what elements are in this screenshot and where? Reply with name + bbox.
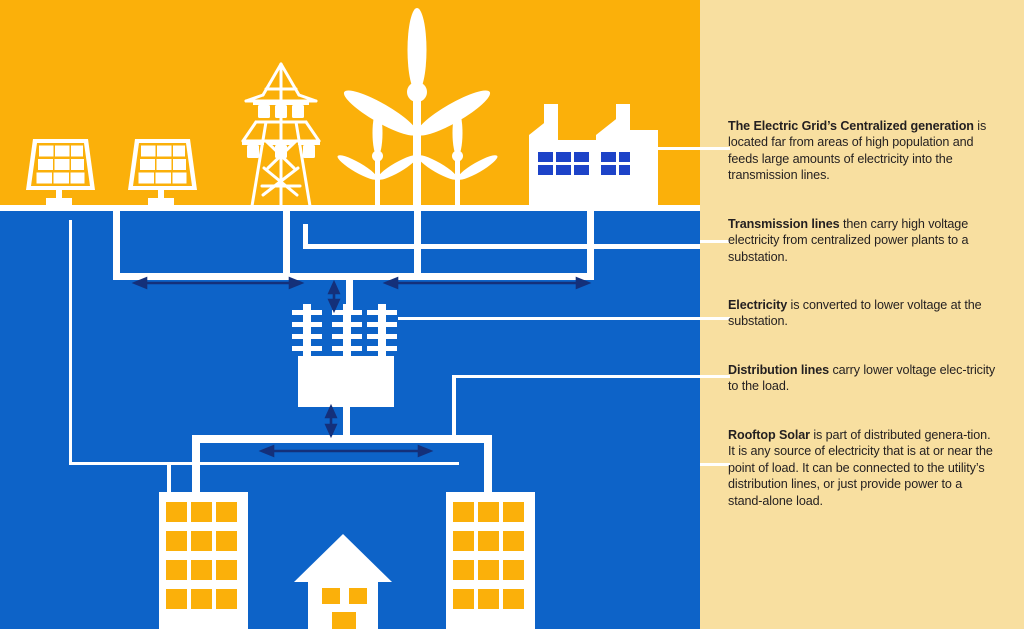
callout-electricity-conversion: Electricity is converted to lower voltag… xyxy=(728,297,996,330)
callout-rooftop-solar: Rooftop Solar is part of distributed gen… xyxy=(728,427,996,509)
callout-lead-transmission-lines: Transmission lines xyxy=(728,217,840,231)
callout-distribution-lines: Distribution lines carry lower voltage e… xyxy=(728,362,996,395)
leader-line-transmission xyxy=(700,240,730,243)
callout-lead-electricity-conversion: Electricity xyxy=(728,298,787,312)
callout-lead-rooftop-solar: Rooftop Solar xyxy=(728,428,810,442)
leader-line-electricity xyxy=(398,317,730,320)
callout-centralized-generation: The Electric Grid’s Centralized generati… xyxy=(728,118,996,184)
leader-line-rooftop xyxy=(700,463,730,466)
electric-grid-infographic: The Electric Grid’s Centralized generati… xyxy=(0,0,1024,629)
callout-list: The Electric Grid’s Centralized generati… xyxy=(728,0,1000,629)
callout-transmission-lines: Transmission lines then carry high volta… xyxy=(728,216,996,265)
callout-lead-distribution-lines: Distribution lines xyxy=(728,363,829,377)
office-building-left xyxy=(159,492,248,629)
leader-line-generation xyxy=(658,147,730,150)
office-building-right xyxy=(446,492,535,629)
callout-lead-centralized-generation: The Electric Grid’s Centralized generati… xyxy=(728,119,974,133)
leader-line-distribution xyxy=(452,375,730,378)
